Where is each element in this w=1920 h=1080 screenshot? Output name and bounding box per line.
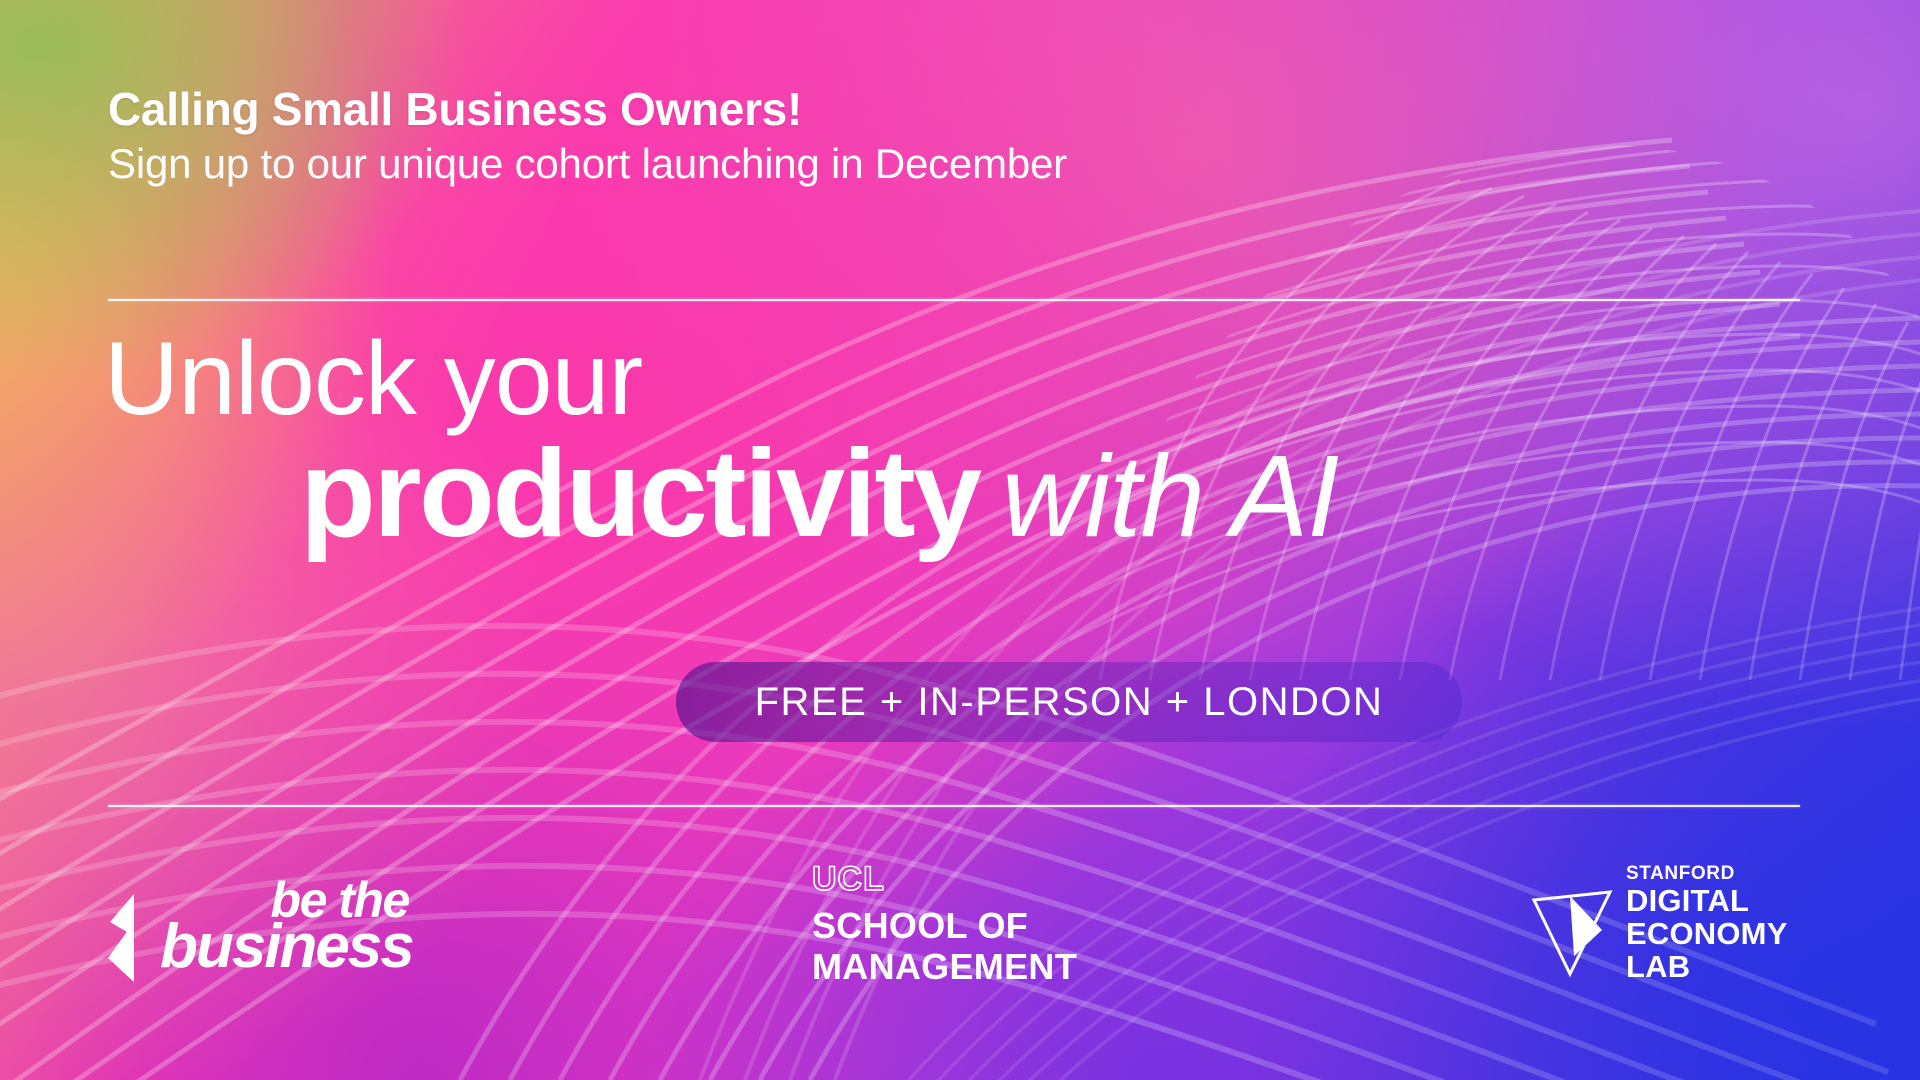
stanford-wordmark: STANFORD DIGITAL ECONOMY LAB	[1626, 864, 1788, 983]
ucl-line-school-of: SCHOOL OF	[812, 906, 1142, 947]
logo-line-business: business	[160, 919, 413, 975]
logo-stanford-digital-economy-lab: STANFORD DIGITAL ECONOMY LAB	[1530, 864, 1850, 1004]
stanford-line-stanford: STANFORD	[1626, 864, 1788, 885]
kicker-headline: Calling Small Business Owners!	[108, 82, 802, 136]
stanford-line-digital: DIGITAL	[1626, 885, 1788, 918]
kicker-subheadline: Sign up to our unique cohort launching i…	[108, 140, 1067, 188]
ucl-line-management: MANAGEMENT	[812, 947, 1142, 988]
banner-content: Calling Small Business Owners! Sign up t…	[0, 0, 1920, 1080]
be-the-business-chevron-icon	[104, 892, 166, 984]
divider-bottom	[108, 805, 1800, 807]
main-headline: Unlock your productivitywith AI	[104, 330, 1864, 555]
logo-row: be the business UCL SCHOOL OF MANAGEMENT	[0, 850, 1920, 1030]
stanford-line-lab: LAB	[1626, 951, 1788, 984]
be-the-business-wordmark: be the business	[160, 878, 413, 975]
logo-ucl-school-of-management: UCL SCHOOL OF MANAGEMENT	[812, 862, 1142, 1002]
headline-line-two: productivitywith AI	[104, 434, 1864, 556]
logo-be-the-business: be the business	[104, 870, 434, 990]
ucl-wordmark: UCL	[812, 862, 1142, 896]
headline-line-one: Unlock your	[104, 330, 1864, 430]
stanford-line-economy: ECONOMY	[1626, 918, 1788, 951]
headline-italic-words: with AI	[1002, 431, 1339, 561]
headline-bold-word: productivity	[300, 425, 980, 563]
stanford-triangle-icon	[1530, 886, 1616, 978]
event-details-badge: FREE + IN-PERSON + LONDON	[676, 662, 1462, 742]
promotional-banner: Calling Small Business Owners! Sign up t…	[0, 0, 1920, 1080]
event-details-text: FREE + IN-PERSON + LONDON	[755, 680, 1384, 725]
divider-top	[108, 299, 1800, 301]
